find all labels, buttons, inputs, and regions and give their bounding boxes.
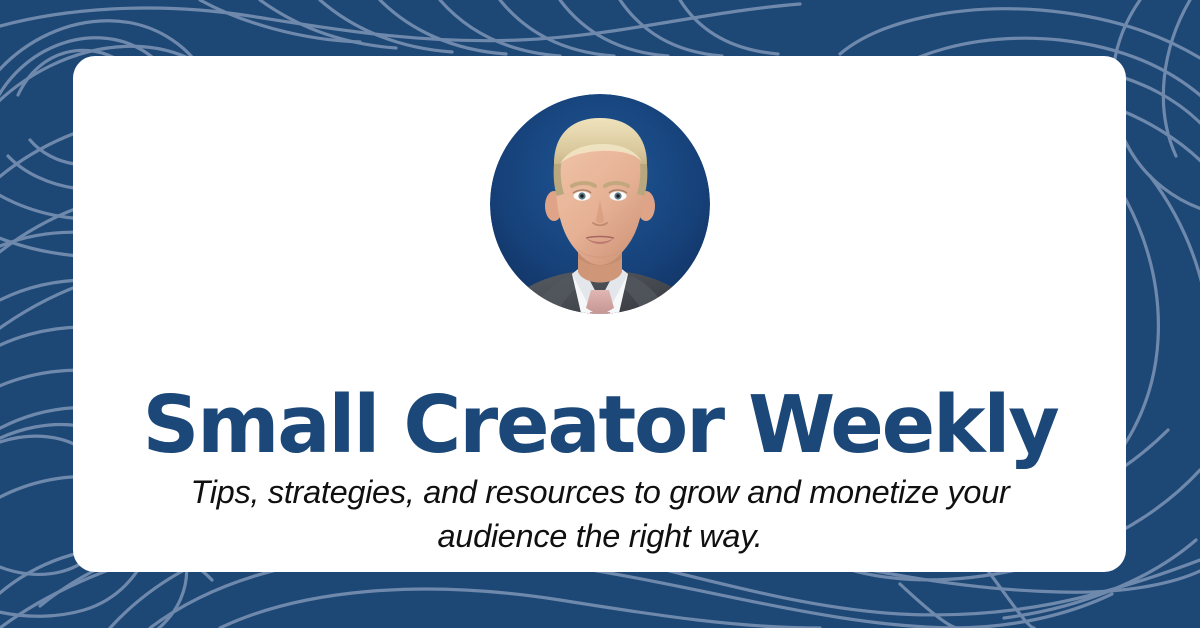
avatar-portrait-illustration — [490, 94, 710, 314]
page-subtitle: Tips, strategies, and resources to grow … — [0, 470, 1200, 558]
avatar — [490, 94, 710, 314]
newsletter-banner: Small Creator Weekly Tips, strategies, a… — [0, 0, 1200, 628]
page-title: Small Creator Weekly — [0, 382, 1200, 468]
